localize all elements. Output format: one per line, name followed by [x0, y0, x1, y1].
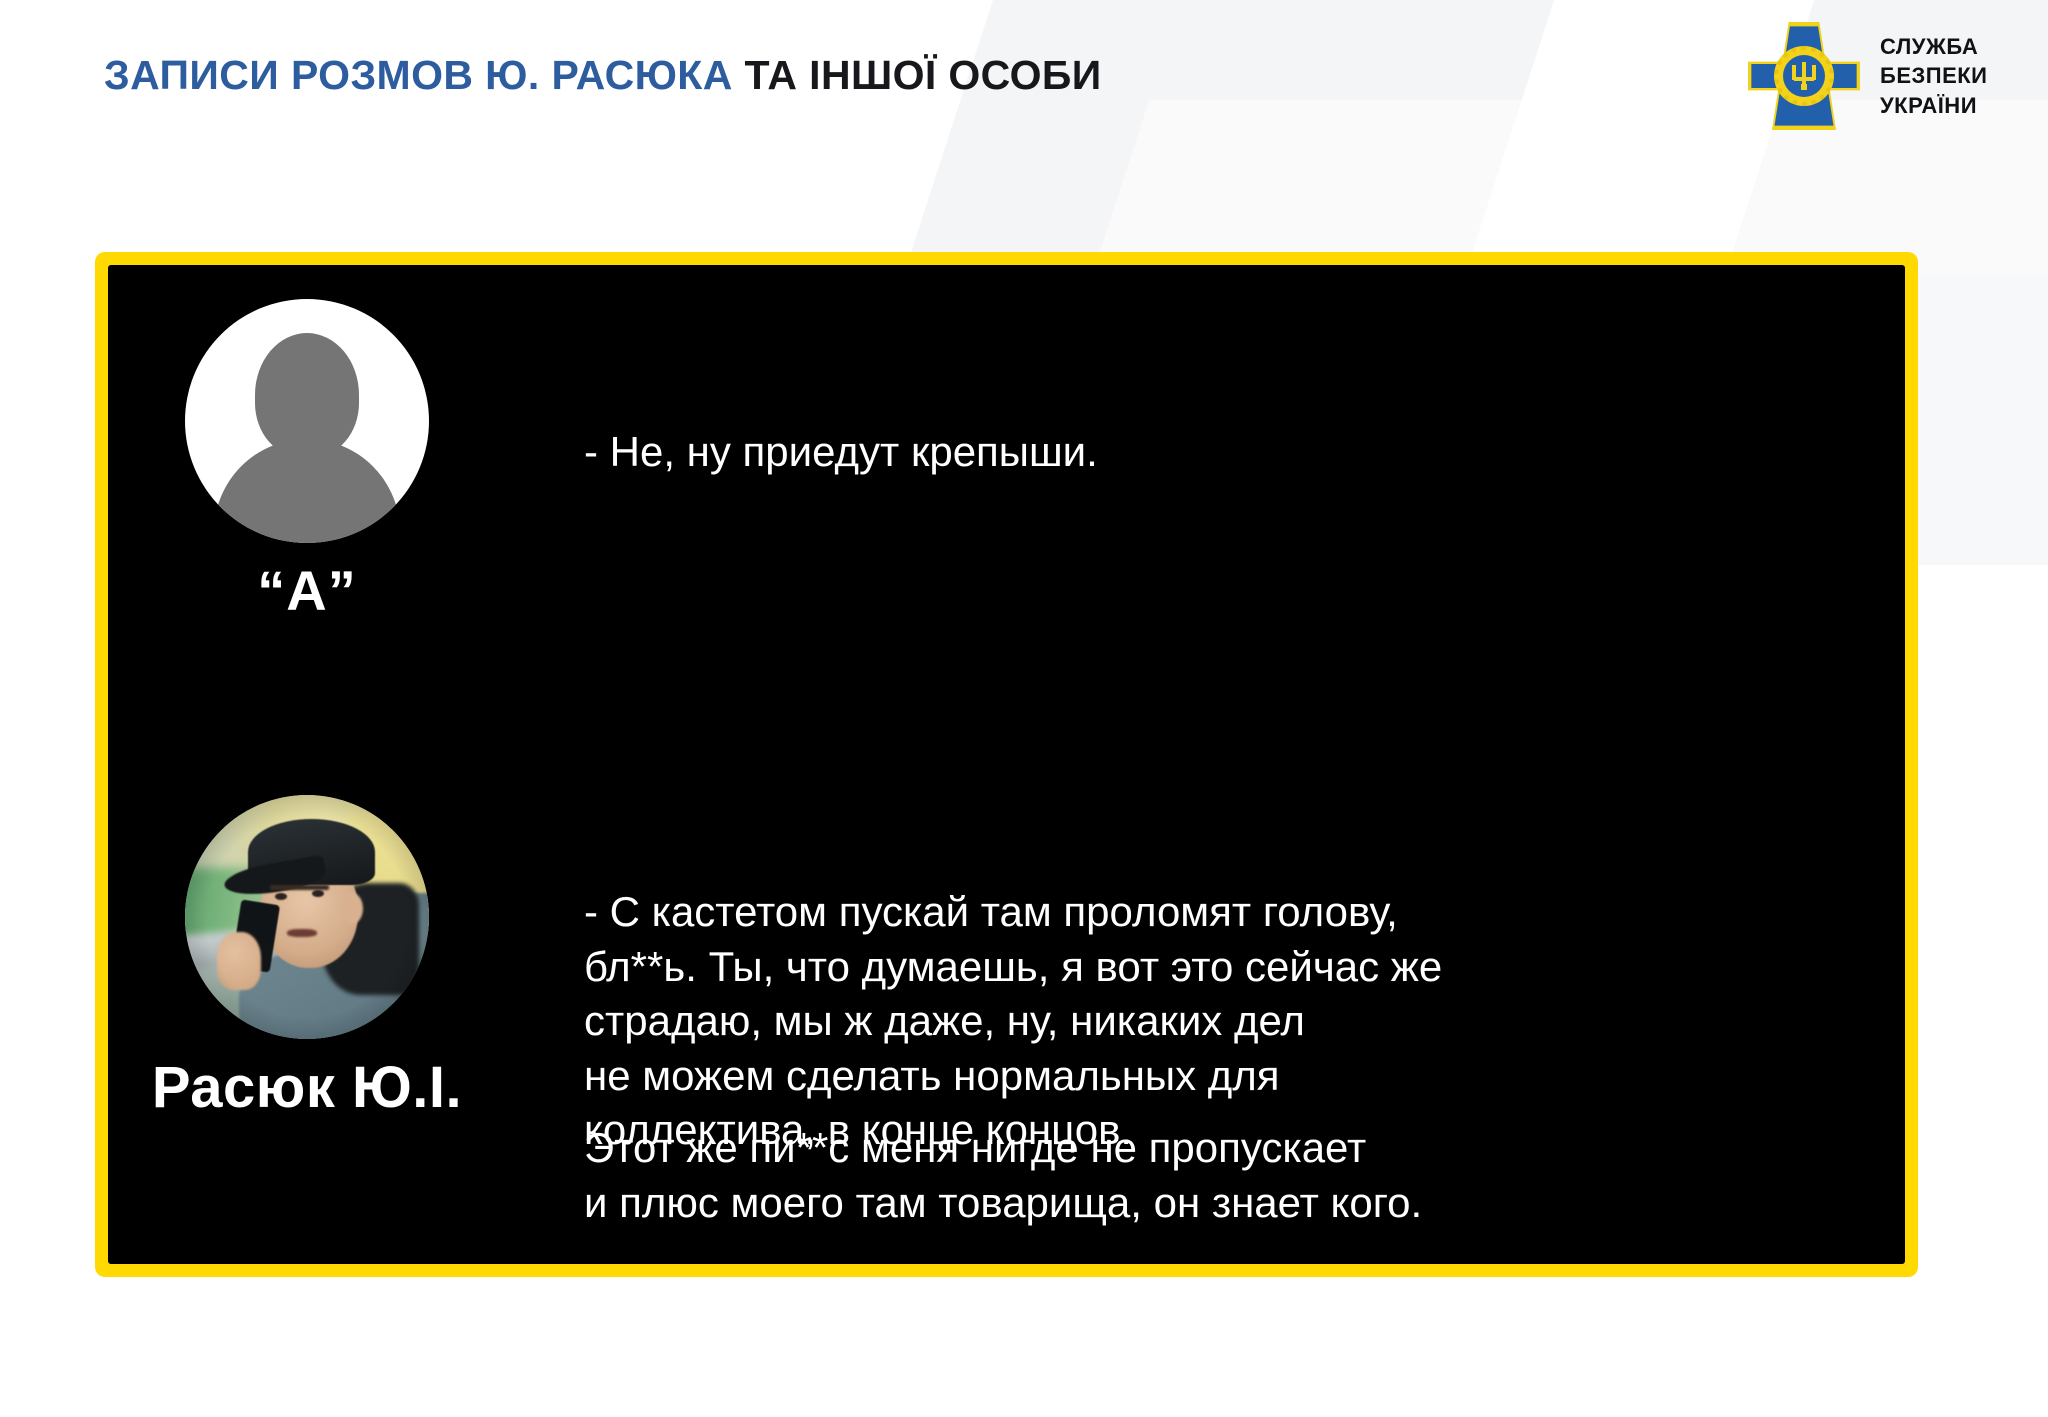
silhouette-body — [214, 439, 400, 543]
avatar-surveillance-photo — [185, 795, 429, 1039]
wreath-inner-disc — [1783, 55, 1825, 97]
speaker-rasiuk-avatar-column: Расюк Ю.І. — [142, 795, 472, 1117]
speaker-rasiuk-label: Расюк Ю.І. — [142, 1059, 472, 1117]
page-title: ЗАПИСИ РОЗМОВ Ю. РАСЮКА ТА ІНШОЇ ОСОБИ — [104, 52, 1102, 99]
evidence-panel-inner: “А” - Не, ну приедут крепыши. — [108, 265, 1905, 1264]
trident-icon — [1792, 62, 1816, 90]
logo-line-3: УКРАЇНИ — [1880, 91, 1988, 120]
avatar-anonymous-icon — [185, 299, 429, 543]
speaker-rasiuk-dialogue-paragraph-2: Этот же пи**с меня нигде не пропускает и… — [584, 1121, 1864, 1230]
logo-line-2: БЕЗПЕКИ — [1880, 61, 1988, 90]
logo-line-1: СЛУЖБА — [1880, 32, 1988, 61]
photo-vignette — [185, 795, 429, 1039]
page-title-rest: ТА ІНШОЇ ОСОБИ — [733, 52, 1102, 98]
sbu-cross-icon — [1746, 20, 1862, 132]
wreath-icon — [1774, 46, 1834, 106]
speaker-a-dialogue-line: - Не, ну приедут крепыши. — [584, 425, 1824, 480]
sbu-logo: СЛУЖБА БЕЗПЕКИ УКРАЇНИ — [1746, 16, 2038, 136]
evidence-panel: “А” - Не, ну приедут крепыши. — [95, 252, 1918, 1277]
speaker-a-avatar-column: “А” — [142, 299, 472, 619]
page-title-highlight: ЗАПИСИ РОЗМОВ Ю. РАСЮКА — [104, 52, 733, 98]
speaker-rasiuk-dialogue-paragraph-1: - С кастетом пускай там проломят голову,… — [584, 885, 1864, 1158]
sbu-logo-text: СЛУЖБА БЕЗПЕКИ УКРАЇНИ — [1880, 32, 1988, 119]
speaker-a-label: “А” — [142, 563, 472, 619]
slide-root: ЗАПИСИ РОЗМОВ Ю. РАСЮКА ТА ІНШОЇ ОСОБИ С… — [0, 0, 2048, 1417]
